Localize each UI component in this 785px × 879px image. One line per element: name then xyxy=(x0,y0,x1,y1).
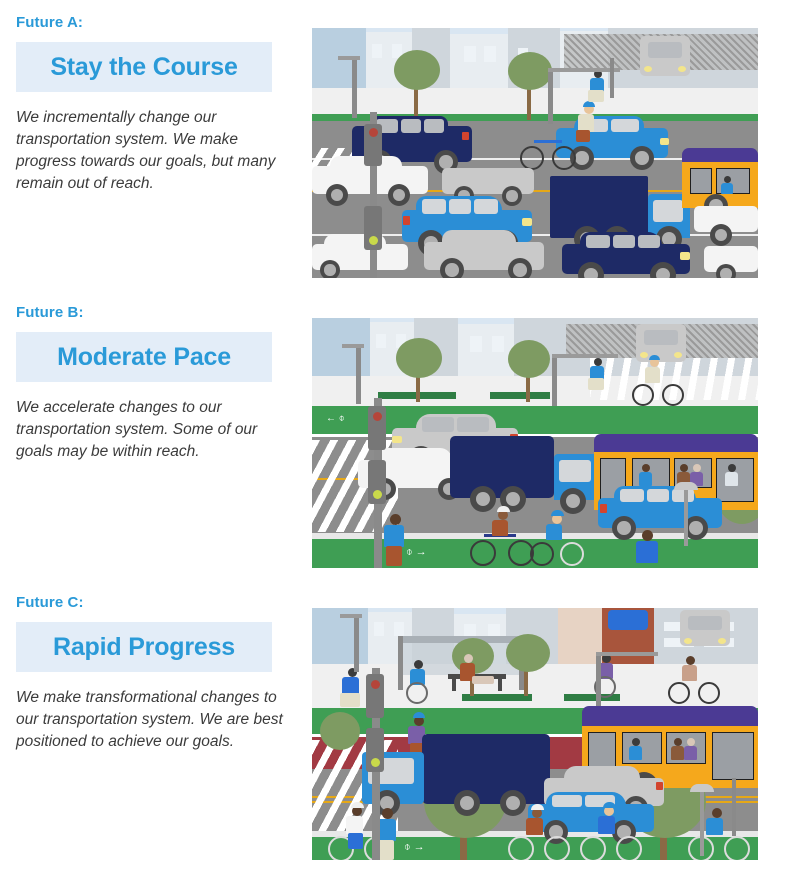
car-window xyxy=(611,119,639,132)
scenario-a-title: Stay the Course xyxy=(16,53,272,82)
signal-mast-pole xyxy=(548,68,553,124)
car-window xyxy=(638,235,660,248)
bicycle-wheel xyxy=(698,682,720,704)
tree-canopy xyxy=(396,338,442,378)
truck-window xyxy=(559,460,591,482)
headlight xyxy=(644,66,652,72)
bench-leg xyxy=(452,679,456,691)
bicycle-frame xyxy=(534,140,562,143)
bus-roof xyxy=(582,706,758,726)
window xyxy=(372,44,382,58)
scenario-c-title: Rapid Progress xyxy=(16,633,272,662)
headlight xyxy=(718,638,726,644)
scenario-b-illustration: ← ⌽ ⌽ → xyxy=(312,318,758,568)
car-window xyxy=(422,199,446,214)
wheel xyxy=(502,186,522,206)
person-torso xyxy=(384,525,404,547)
car-window xyxy=(449,199,471,214)
person-leg xyxy=(378,840,394,860)
scenario-b-description: We accelerate changes to our transportat… xyxy=(16,397,284,463)
street-lamp-arm xyxy=(342,344,364,348)
planter xyxy=(490,392,550,399)
bicycle-wheel xyxy=(662,384,684,406)
street-lamp-head xyxy=(690,784,714,792)
headlight xyxy=(674,352,682,358)
scenario-b-text-column: Future B: Moderate Pace We accelerate ch… xyxy=(16,290,301,463)
futures-comparison-page: Future A: Stay the Course We incremental… xyxy=(0,0,785,879)
passenger-head xyxy=(674,738,682,746)
person-torso xyxy=(636,541,658,563)
pole xyxy=(732,778,736,836)
car-window xyxy=(672,489,694,502)
taillight xyxy=(403,216,410,225)
bike-lane-left-arrow-marking: ← ⌽ xyxy=(326,414,345,424)
helmet xyxy=(413,712,425,718)
signal-red-light xyxy=(371,680,380,689)
wheel xyxy=(440,258,464,278)
car-window xyxy=(401,119,421,133)
truck-box xyxy=(450,436,554,498)
bicycle-wheel xyxy=(508,836,534,860)
passenger-torso xyxy=(671,746,684,760)
wheel xyxy=(500,790,526,816)
person-leg xyxy=(588,378,604,390)
headlight xyxy=(392,436,402,443)
scenario-c-illustration: ← ⌽ ← 🚌 ⌽ → xyxy=(312,608,758,860)
wheel xyxy=(470,486,496,512)
signal-green-light xyxy=(369,236,378,245)
taillight xyxy=(600,504,607,513)
window xyxy=(394,622,404,636)
passenger-head xyxy=(687,738,695,746)
car-roof xyxy=(378,448,452,464)
building xyxy=(458,324,514,376)
utility-pole xyxy=(352,58,357,118)
bike-lane-right-arrow-marking: ⌽ → xyxy=(406,547,427,558)
street-lamp-head xyxy=(674,482,698,490)
headlight xyxy=(660,138,669,145)
signal-green-light xyxy=(371,758,380,767)
window xyxy=(470,336,482,352)
bus-roof xyxy=(682,148,758,162)
scenario-a-title-badge: Stay the Course xyxy=(16,42,272,92)
headlight xyxy=(522,218,532,226)
bicycle-wheel xyxy=(580,836,606,860)
helmet xyxy=(497,506,510,512)
wheel xyxy=(388,184,410,206)
street-lamp-arm xyxy=(340,614,362,618)
person-head xyxy=(464,654,473,663)
headlight xyxy=(684,638,692,644)
car-window xyxy=(688,616,722,630)
helmet xyxy=(603,802,616,808)
window xyxy=(376,334,386,348)
signal-mast-arm xyxy=(596,652,658,656)
person-torso xyxy=(598,816,615,834)
wheel xyxy=(716,264,736,278)
person-torso xyxy=(706,818,723,835)
scenario-b-title: Moderate Pace xyxy=(16,343,272,372)
car-window xyxy=(620,489,644,502)
truck-window xyxy=(653,200,683,222)
wheel xyxy=(630,146,654,170)
wheel xyxy=(560,488,586,514)
person-torso xyxy=(342,677,359,694)
tree-canopy xyxy=(394,50,440,90)
signal-mast-pole xyxy=(596,652,601,706)
bicycle-wheel xyxy=(520,146,544,170)
bicycle-wheel xyxy=(544,836,570,860)
wheel xyxy=(454,790,480,816)
passenger-torso xyxy=(725,472,738,486)
wheel xyxy=(508,258,532,278)
wheel xyxy=(710,224,732,246)
wheel xyxy=(320,260,340,278)
person-head xyxy=(390,514,401,525)
wheel xyxy=(612,516,636,540)
scenario-b-title-badge: Moderate Pace xyxy=(16,332,272,382)
person-head xyxy=(594,358,602,366)
scenario-c-title-badge: Rapid Progress xyxy=(16,622,272,672)
taillight xyxy=(462,132,469,140)
scenario-a-label: Future A: xyxy=(16,0,301,31)
person-head xyxy=(724,176,731,183)
person-head xyxy=(382,808,393,819)
scenario-a-illustration xyxy=(312,28,758,278)
building xyxy=(450,34,508,88)
signal-green-light xyxy=(373,490,382,499)
window xyxy=(492,336,504,352)
passenger-head xyxy=(632,738,640,746)
person-leg xyxy=(472,676,494,684)
scenario-row-a: Future A: Stay the Course We incremental… xyxy=(0,0,785,290)
person-leg xyxy=(588,90,604,102)
car-window xyxy=(552,795,582,807)
helmet xyxy=(531,804,544,810)
bus-window xyxy=(690,168,712,194)
bicycle-wheel xyxy=(552,146,576,170)
person-leg xyxy=(386,546,402,566)
window xyxy=(374,622,384,636)
headlight xyxy=(678,66,686,72)
passenger-torso xyxy=(684,746,697,760)
utility-pole xyxy=(356,346,361,404)
scenario-c-text-column: Future C: Rapid Progress We make transfo… xyxy=(16,580,301,753)
person-leg xyxy=(576,130,590,142)
helmet xyxy=(551,510,564,516)
person-torso xyxy=(682,665,697,681)
car-roof xyxy=(442,230,516,246)
bench-leg xyxy=(498,679,502,691)
wheel xyxy=(326,184,348,206)
headlight xyxy=(640,352,648,358)
person-head xyxy=(642,530,653,541)
sidewalk-far xyxy=(312,88,758,114)
car-window xyxy=(424,119,444,133)
car-roof xyxy=(564,766,640,782)
person-torso xyxy=(721,183,733,194)
bike-lane-right-arrow-marking: ⌽ → xyxy=(404,842,425,853)
tree-canopy xyxy=(506,634,550,672)
tree-canopy xyxy=(508,340,550,378)
signal-red-light xyxy=(373,412,382,421)
taillight xyxy=(656,782,663,790)
bicycle-wheel xyxy=(616,836,642,860)
person-torso xyxy=(492,520,508,536)
car-window xyxy=(648,42,682,58)
person-torso xyxy=(526,818,543,835)
pole xyxy=(610,58,614,98)
bus-roof xyxy=(594,434,758,452)
bicycle-wheel xyxy=(560,542,584,566)
scenario-c-description: We make transformational changes to our … xyxy=(16,687,284,753)
person-torso xyxy=(546,524,562,540)
signal-red-light xyxy=(369,128,378,137)
headlight xyxy=(680,252,690,260)
passenger-torso xyxy=(639,472,652,486)
street-lamp-arm xyxy=(338,56,360,60)
person-torso xyxy=(346,816,363,834)
passenger-head xyxy=(693,464,701,472)
person-leg xyxy=(348,833,363,849)
window xyxy=(464,46,476,62)
car-window xyxy=(644,330,678,345)
motorcycle xyxy=(608,610,648,630)
street-lamp-post xyxy=(700,790,704,856)
passenger-torso xyxy=(629,746,642,760)
signal-mast-pole xyxy=(552,354,557,406)
tree-canopy xyxy=(320,712,360,750)
bus-window xyxy=(622,732,662,764)
person-head xyxy=(712,808,722,818)
passenger-head xyxy=(642,464,650,472)
person-torso xyxy=(645,367,660,383)
signal-mast-arm xyxy=(552,354,618,358)
scenario-row-c: Future C: Rapid Progress We make transfo… xyxy=(0,580,785,879)
person-head xyxy=(414,660,423,669)
passenger-head xyxy=(728,464,736,472)
scenario-c-label: Future C: xyxy=(16,580,301,611)
scenario-b-label: Future B: xyxy=(16,290,301,321)
scenario-row-b: Future B: Moderate Pace We accelerate ch… xyxy=(0,290,785,580)
helmet xyxy=(351,802,364,808)
wheelchair-wheel xyxy=(406,682,428,704)
person-head xyxy=(686,656,695,665)
tree-canopy xyxy=(508,52,552,90)
passenger-head xyxy=(680,464,688,472)
car-window xyxy=(613,235,635,248)
bicycle-wheel xyxy=(668,682,690,704)
car-window xyxy=(422,417,454,432)
car-window xyxy=(474,199,498,214)
helmet xyxy=(649,355,660,360)
bus-shelter-post xyxy=(398,636,403,690)
bicycle-wheel xyxy=(530,542,554,566)
street-lamp-post xyxy=(684,488,688,546)
bicycle-wheel xyxy=(632,384,654,406)
truck-box xyxy=(422,734,550,804)
bicycle-wheel xyxy=(724,836,750,860)
bicycle-wheel xyxy=(470,540,496,566)
scenario-a-text-column: Future A: Stay the Course We incremental… xyxy=(16,0,301,195)
car-window xyxy=(586,235,610,248)
person-leg xyxy=(340,693,360,707)
car-window xyxy=(647,489,669,502)
utility-pole xyxy=(354,616,359,672)
car-window xyxy=(457,417,489,432)
truck-box xyxy=(550,176,648,238)
bus-door xyxy=(712,732,754,780)
window xyxy=(484,46,496,62)
scenario-a-description: We incrementally change our transportati… xyxy=(16,107,284,195)
